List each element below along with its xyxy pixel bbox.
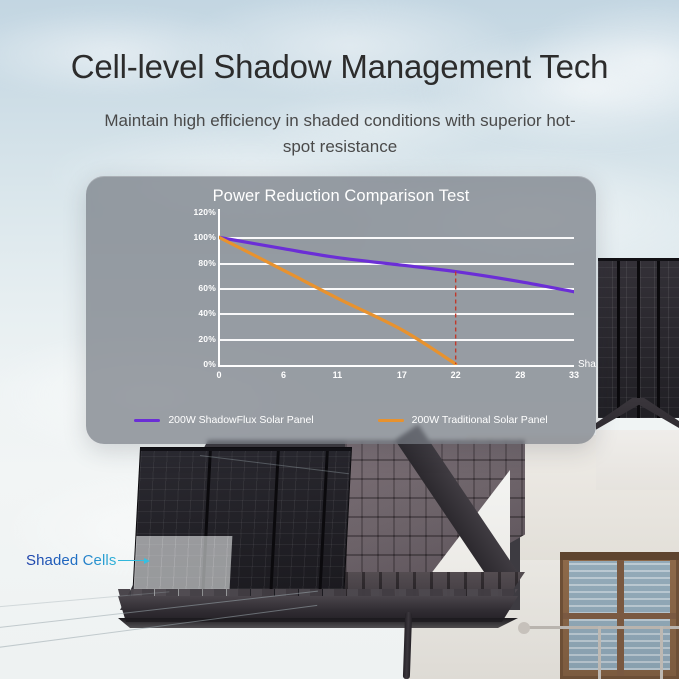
right-wall [596,430,679,490]
balcony-post [660,626,663,679]
chart-title: Power Reduction Comparison Test [86,187,596,206]
x-axis-label: Shaded Area(%) [578,359,596,370]
balcony-post [598,626,601,679]
solar-panel-array-main [133,448,351,600]
panel-frame-top [141,448,351,451]
shaded-cells-annotation: Shaded Cells [26,552,150,569]
legend-swatch [134,419,160,422]
x-axis-line [218,365,574,367]
door-rail [563,613,676,619]
page-subtitle: Maintain high efficiency in shaded condi… [90,108,590,160]
panel-divider [637,258,640,418]
page-title: Cell-level Shadow Management Tech [0,48,679,86]
chart-series [219,212,574,365]
x-tick-label: 0 [199,370,239,380]
y-tick-label: 80% [182,258,216,268]
legend-item: 200W ShadowFlux Solar Panel [134,414,313,426]
annotation-label: Shaded Cells [26,552,116,569]
x-tick-label: 11 [317,370,357,380]
y-tick-label: 40% [182,308,216,318]
x-tick-label: 28 [500,370,540,380]
x-tick-label: 22 [436,370,476,380]
legend-label: 200W ShadowFlux Solar Panel [168,414,313,426]
annotation-arrow-icon [144,558,150,564]
panel-frame [598,258,679,261]
balcony-rail-cap [518,622,530,634]
y-tick-label: 100% [182,232,216,242]
panel-divider [617,258,620,418]
x-tick-label: 33 [554,370,594,380]
legend-item: 200W Traditional Solar Panel [378,414,548,426]
y-tick-label: 120% [182,207,216,217]
y-tick-label: 20% [182,334,216,344]
door-header [560,552,679,560]
y-tick-label: 60% [182,283,216,293]
y-tick-label: 0% [182,359,216,369]
chart-card: Power Reduction Comparison Test 0%20%40%… [86,176,596,444]
chart-legend: 200W ShadowFlux Solar Panel200W Traditio… [86,414,596,426]
x-tick-label: 17 [382,370,422,380]
solar-panel-array-right [598,258,679,418]
legend-label: 200W Traditional Solar Panel [412,414,548,426]
legend-swatch [378,419,404,422]
x-tick-label: 6 [264,370,304,380]
panel-divider [657,258,660,418]
annotation-leader-line [118,560,144,562]
